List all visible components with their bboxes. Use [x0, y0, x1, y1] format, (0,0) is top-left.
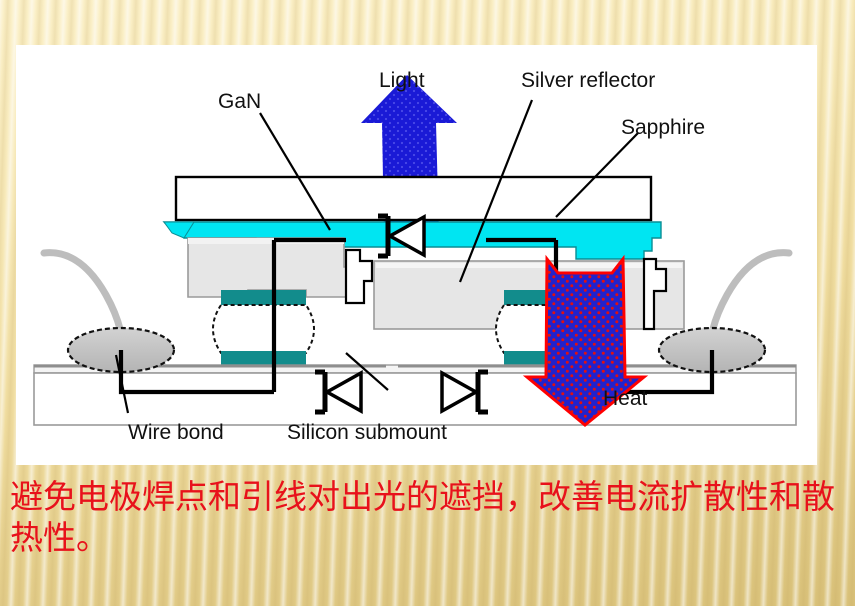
wire-bond-left: [44, 253, 174, 372]
sapphire-block: [176, 177, 651, 220]
slide-caption: 避免电极焊点和引线对出光的遮挡，改善电流扩散性和散热性。: [10, 476, 850, 558]
label-heat: Heat: [603, 387, 648, 410]
die-step-notch: [346, 250, 372, 303]
led-cross-section-diagram: GaN Light Silver reflector Sapphire Wire…: [16, 45, 817, 465]
label-sapphire: Sapphire: [621, 116, 705, 139]
figure-panel: GaN Light Silver reflector Sapphire Wire…: [16, 45, 817, 465]
label-gan: GaN: [218, 90, 261, 113]
silicon-submount: [34, 365, 796, 425]
label-wire-bond: Wire bond: [128, 421, 224, 444]
slide-background: GaN Light Silver reflector Sapphire Wire…: [0, 0, 855, 606]
solder-bump-left: [213, 290, 314, 366]
label-silver-reflector: Silver reflector: [521, 69, 655, 92]
label-silicon-submount: Silicon submount: [287, 421, 447, 444]
label-light: Light: [379, 69, 425, 92]
